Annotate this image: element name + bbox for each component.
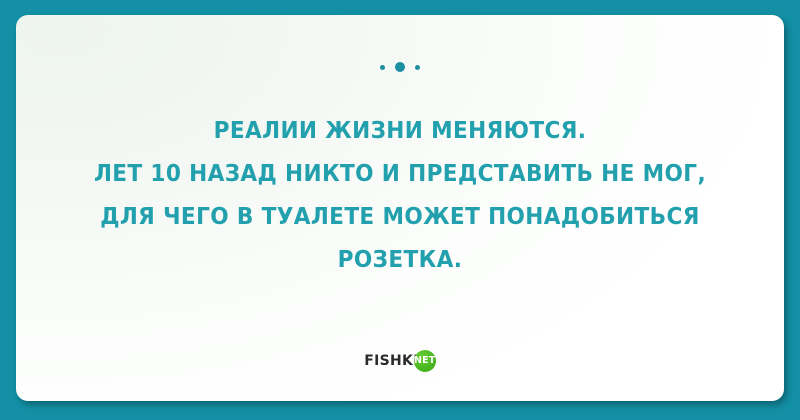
quote-line-4: РОЗЕТКА. [78, 238, 722, 281]
fishki-net-logo[interactable]: FISHKI NET [16, 350, 784, 372]
quote-card: РЕАЛИИ ЖИЗНИ МЕНЯЮТСЯ. ЛЕТ 10 НАЗАД НИКТ… [16, 15, 784, 401]
logo-badge-label: NET [414, 356, 436, 366]
three-dots-ornament [380, 61, 420, 73]
quote-text: РЕАЛИИ ЖИЗНИ МЕНЯЮТСЯ. ЛЕТ 10 НАЗАД НИКТ… [78, 109, 722, 281]
logo-inner: FISHKI NET [364, 350, 435, 372]
dot-center-icon [395, 62, 405, 72]
dot-right-icon [415, 65, 420, 70]
quote-line-2: ЛЕТ 10 НАЗАД НИКТО И ПРЕДСТАВИТЬ НЕ МОГ, [78, 152, 722, 195]
dot-left-icon [380, 65, 385, 70]
logo-wordmark: FISHKI [364, 354, 418, 368]
teal-frame: РЕАЛИИ ЖИЗНИ МЕНЯЮТСЯ. ЛЕТ 10 НАЗАД НИКТ… [0, 0, 800, 420]
logo-badge-icon: NET [414, 350, 436, 372]
quote-line-1: РЕАЛИИ ЖИЗНИ МЕНЯЮТСЯ. [78, 109, 722, 152]
quote-line-3: ДЛЯ ЧЕГО В ТУАЛЕТЕ МОЖЕТ ПОНАДОБИТЬСЯ [78, 195, 722, 238]
